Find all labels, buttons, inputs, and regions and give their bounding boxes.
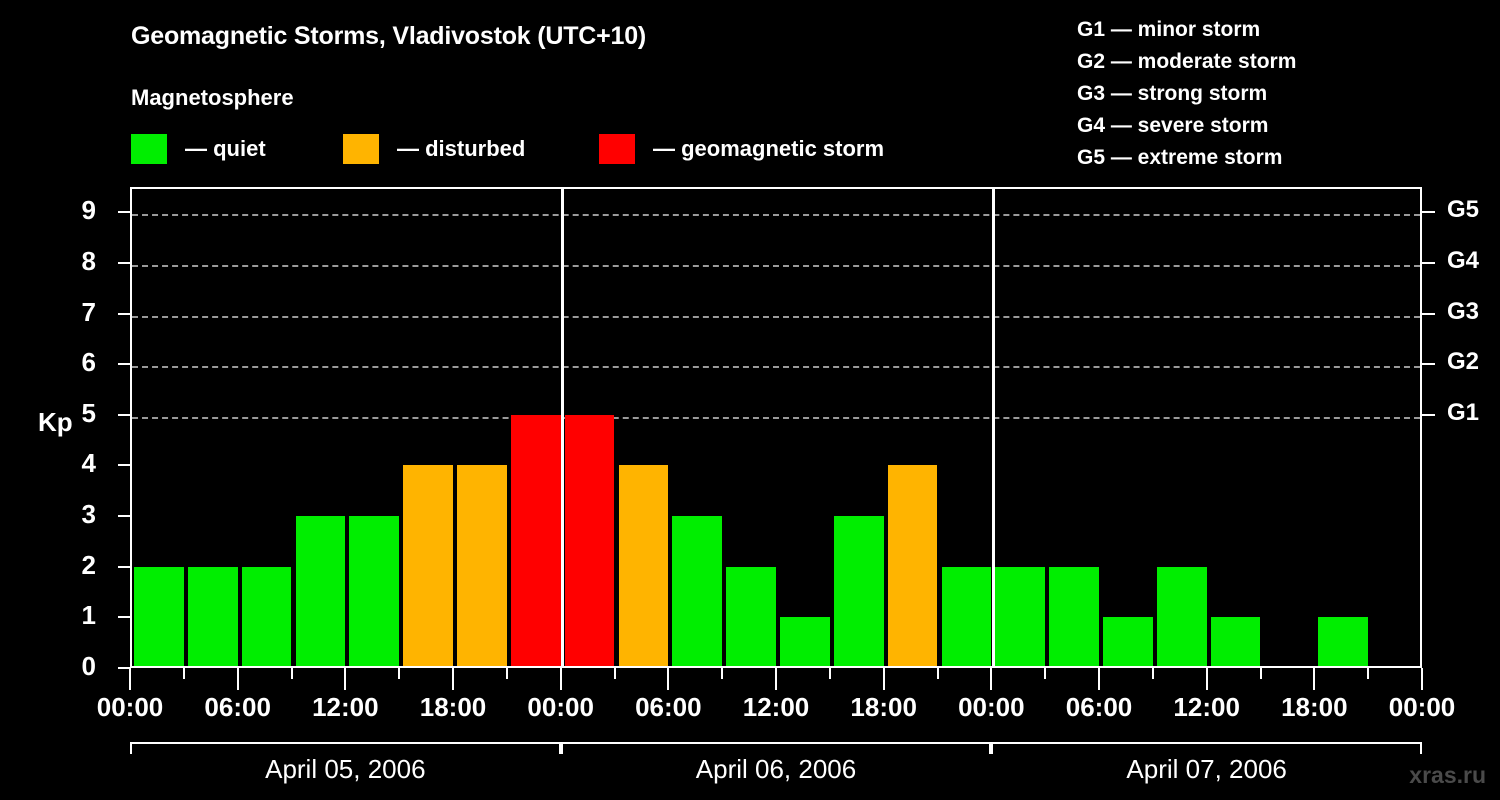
y-tick-label-2: 2 [66, 550, 96, 581]
x-tick-major [1313, 668, 1315, 690]
bar[interactable] [565, 415, 615, 668]
x-tick-major [1206, 668, 1208, 690]
x-tick-label: 12:00 [312, 692, 379, 723]
x-tick-minor [721, 668, 723, 679]
legend-swatch-quiet-icon [131, 134, 167, 164]
x-tick-minor [291, 668, 293, 679]
g-tick-mark-G1 [1422, 414, 1435, 416]
legend-item-storm: — geomagnetic storm [599, 133, 884, 165]
g-tick-mark-G2 [1422, 363, 1435, 365]
y-tick-label-3: 3 [66, 499, 96, 530]
bar[interactable] [296, 516, 346, 668]
day-label-3: April 07, 2006 [1126, 754, 1286, 785]
y-tick-label-9: 9 [66, 195, 96, 226]
x-tick-label: 00:00 [958, 692, 1025, 723]
legend-label-quiet: — quiet [185, 136, 266, 162]
bar[interactable] [995, 567, 1045, 668]
g-scale-row-5: G5 — extreme storm [1077, 142, 1296, 174]
x-tick-label: 06:00 [1066, 692, 1133, 723]
x-tick-label: 06:00 [204, 692, 271, 723]
day-label-1: April 05, 2006 [265, 754, 425, 785]
x-tick-minor [1152, 668, 1154, 679]
y-tick-label-0: 0 [66, 651, 96, 682]
x-tick-label: 06:00 [635, 692, 702, 723]
x-tick-major [667, 668, 669, 690]
x-tick-minor [506, 668, 508, 679]
chart-root: Geomagnetic Storms, Vladivostok (UTC+10)… [0, 0, 1500, 800]
x-tick-major [990, 668, 992, 690]
bar[interactable] [1103, 617, 1153, 668]
x-tick-minor [1367, 668, 1369, 679]
x-tick-label: 12:00 [1173, 692, 1240, 723]
x-tick-major [452, 668, 454, 690]
y-tick-mark-2 [118, 566, 130, 568]
bar[interactable] [834, 516, 884, 668]
g-tick-mark-G5 [1422, 211, 1435, 213]
x-tick-minor [937, 668, 939, 679]
x-tick-minor [829, 668, 831, 679]
bar[interactable] [672, 516, 722, 668]
x-tick-label: 00:00 [1389, 692, 1456, 723]
legend-item-quiet: — quiet [131, 133, 266, 165]
gridline-kp-9 [132, 214, 1420, 216]
day-bracket-2 [561, 742, 992, 754]
plot-inner [132, 189, 1420, 668]
g-scale-legend: G1 — minor stormG2 — moderate stormG3 — … [1077, 14, 1296, 174]
x-tick-minor [398, 668, 400, 679]
bar[interactable] [403, 465, 453, 668]
bar[interactable] [1318, 617, 1368, 668]
watermark: xras.ru [1409, 762, 1486, 789]
x-tick-major [560, 668, 562, 690]
legend-label-storm: — geomagnetic storm [653, 136, 884, 162]
y-tick-mark-5 [118, 414, 130, 416]
bar[interactable] [511, 415, 561, 668]
bar[interactable] [888, 465, 938, 668]
gridline-kp-5 [132, 417, 1420, 419]
x-tick-major [237, 668, 239, 690]
gridline-kp-6 [132, 366, 1420, 368]
x-tick-label: 12:00 [743, 692, 810, 723]
x-tick-minor [183, 668, 185, 679]
page-title: Geomagnetic Storms, Vladivostok (UTC+10) [131, 22, 646, 51]
g-tick-label-G3: G3 [1447, 298, 1479, 326]
legend-item-disturbed: — disturbed [343, 133, 525, 165]
gridline-kp-8 [132, 265, 1420, 267]
x-tick-label: 18:00 [850, 692, 917, 723]
x-tick-label: 18:00 [420, 692, 487, 723]
x-tick-minor [614, 668, 616, 679]
bar[interactable] [726, 567, 776, 668]
g-tick-label-G2: G2 [1447, 348, 1479, 376]
bar[interactable] [780, 617, 830, 668]
y-tick-label-8: 8 [66, 246, 96, 277]
bar[interactable] [349, 516, 399, 668]
bar[interactable] [1049, 567, 1099, 668]
y-tick-label-4: 4 [66, 448, 96, 479]
plot-area [130, 187, 1422, 668]
y-tick-mark-7 [118, 313, 130, 315]
bar[interactable] [457, 465, 507, 668]
g-scale-row-4: G4 — severe storm [1077, 110, 1296, 142]
g-scale-row-1: G1 — minor storm [1077, 14, 1296, 46]
bar[interactable] [134, 567, 184, 668]
y-tick-label-7: 7 [66, 297, 96, 328]
bar[interactable] [1211, 617, 1261, 668]
x-tick-label: 18:00 [1281, 692, 1348, 723]
day-bracket-3 [991, 742, 1422, 754]
y-tick-mark-9 [118, 211, 130, 213]
x-tick-major [129, 668, 131, 690]
g-tick-label-G1: G1 [1447, 399, 1479, 427]
x-tick-major [1098, 668, 1100, 690]
g-scale-row-2: G2 — moderate storm [1077, 46, 1296, 78]
y-tick-mark-1 [118, 616, 130, 618]
bar[interactable] [188, 567, 238, 668]
y-tick-mark-4 [118, 464, 130, 466]
gridline-kp-7 [132, 316, 1420, 318]
day-label-2: April 06, 2006 [696, 754, 856, 785]
g-tick-label-G4: G4 [1447, 247, 1479, 275]
legend-swatch-storm-icon [599, 134, 635, 164]
g-tick-label-G5: G5 [1447, 196, 1479, 224]
chart-subtitle: Magnetosphere [131, 85, 294, 111]
x-tick-major [775, 668, 777, 690]
y-tick-mark-8 [118, 262, 130, 264]
bar[interactable] [1157, 567, 1207, 668]
g-tick-mark-G4 [1422, 262, 1435, 264]
y-tick-mark-6 [118, 363, 130, 365]
y-tick-label-6: 6 [66, 347, 96, 378]
x-tick-label: 00:00 [527, 692, 594, 723]
y-tick-label-5: 5 [66, 398, 96, 429]
day-bracket-1 [130, 742, 561, 754]
bar[interactable] [942, 567, 992, 668]
g-tick-mark-G3 [1422, 313, 1435, 315]
y-tick-mark-3 [118, 515, 130, 517]
bar[interactable] [242, 567, 292, 668]
legend-label-disturbed: — disturbed [397, 136, 525, 162]
x-tick-minor [1260, 668, 1262, 679]
x-tick-label: 00:00 [97, 692, 164, 723]
g-scale-row-3: G3 — strong storm [1077, 78, 1296, 110]
x-tick-major [883, 668, 885, 690]
x-tick-major [1421, 668, 1423, 690]
x-tick-minor [1044, 668, 1046, 679]
y-tick-label-1: 1 [66, 600, 96, 631]
x-tick-major [344, 668, 346, 690]
legend-swatch-disturbed-icon [343, 134, 379, 164]
bar[interactable] [619, 465, 669, 668]
